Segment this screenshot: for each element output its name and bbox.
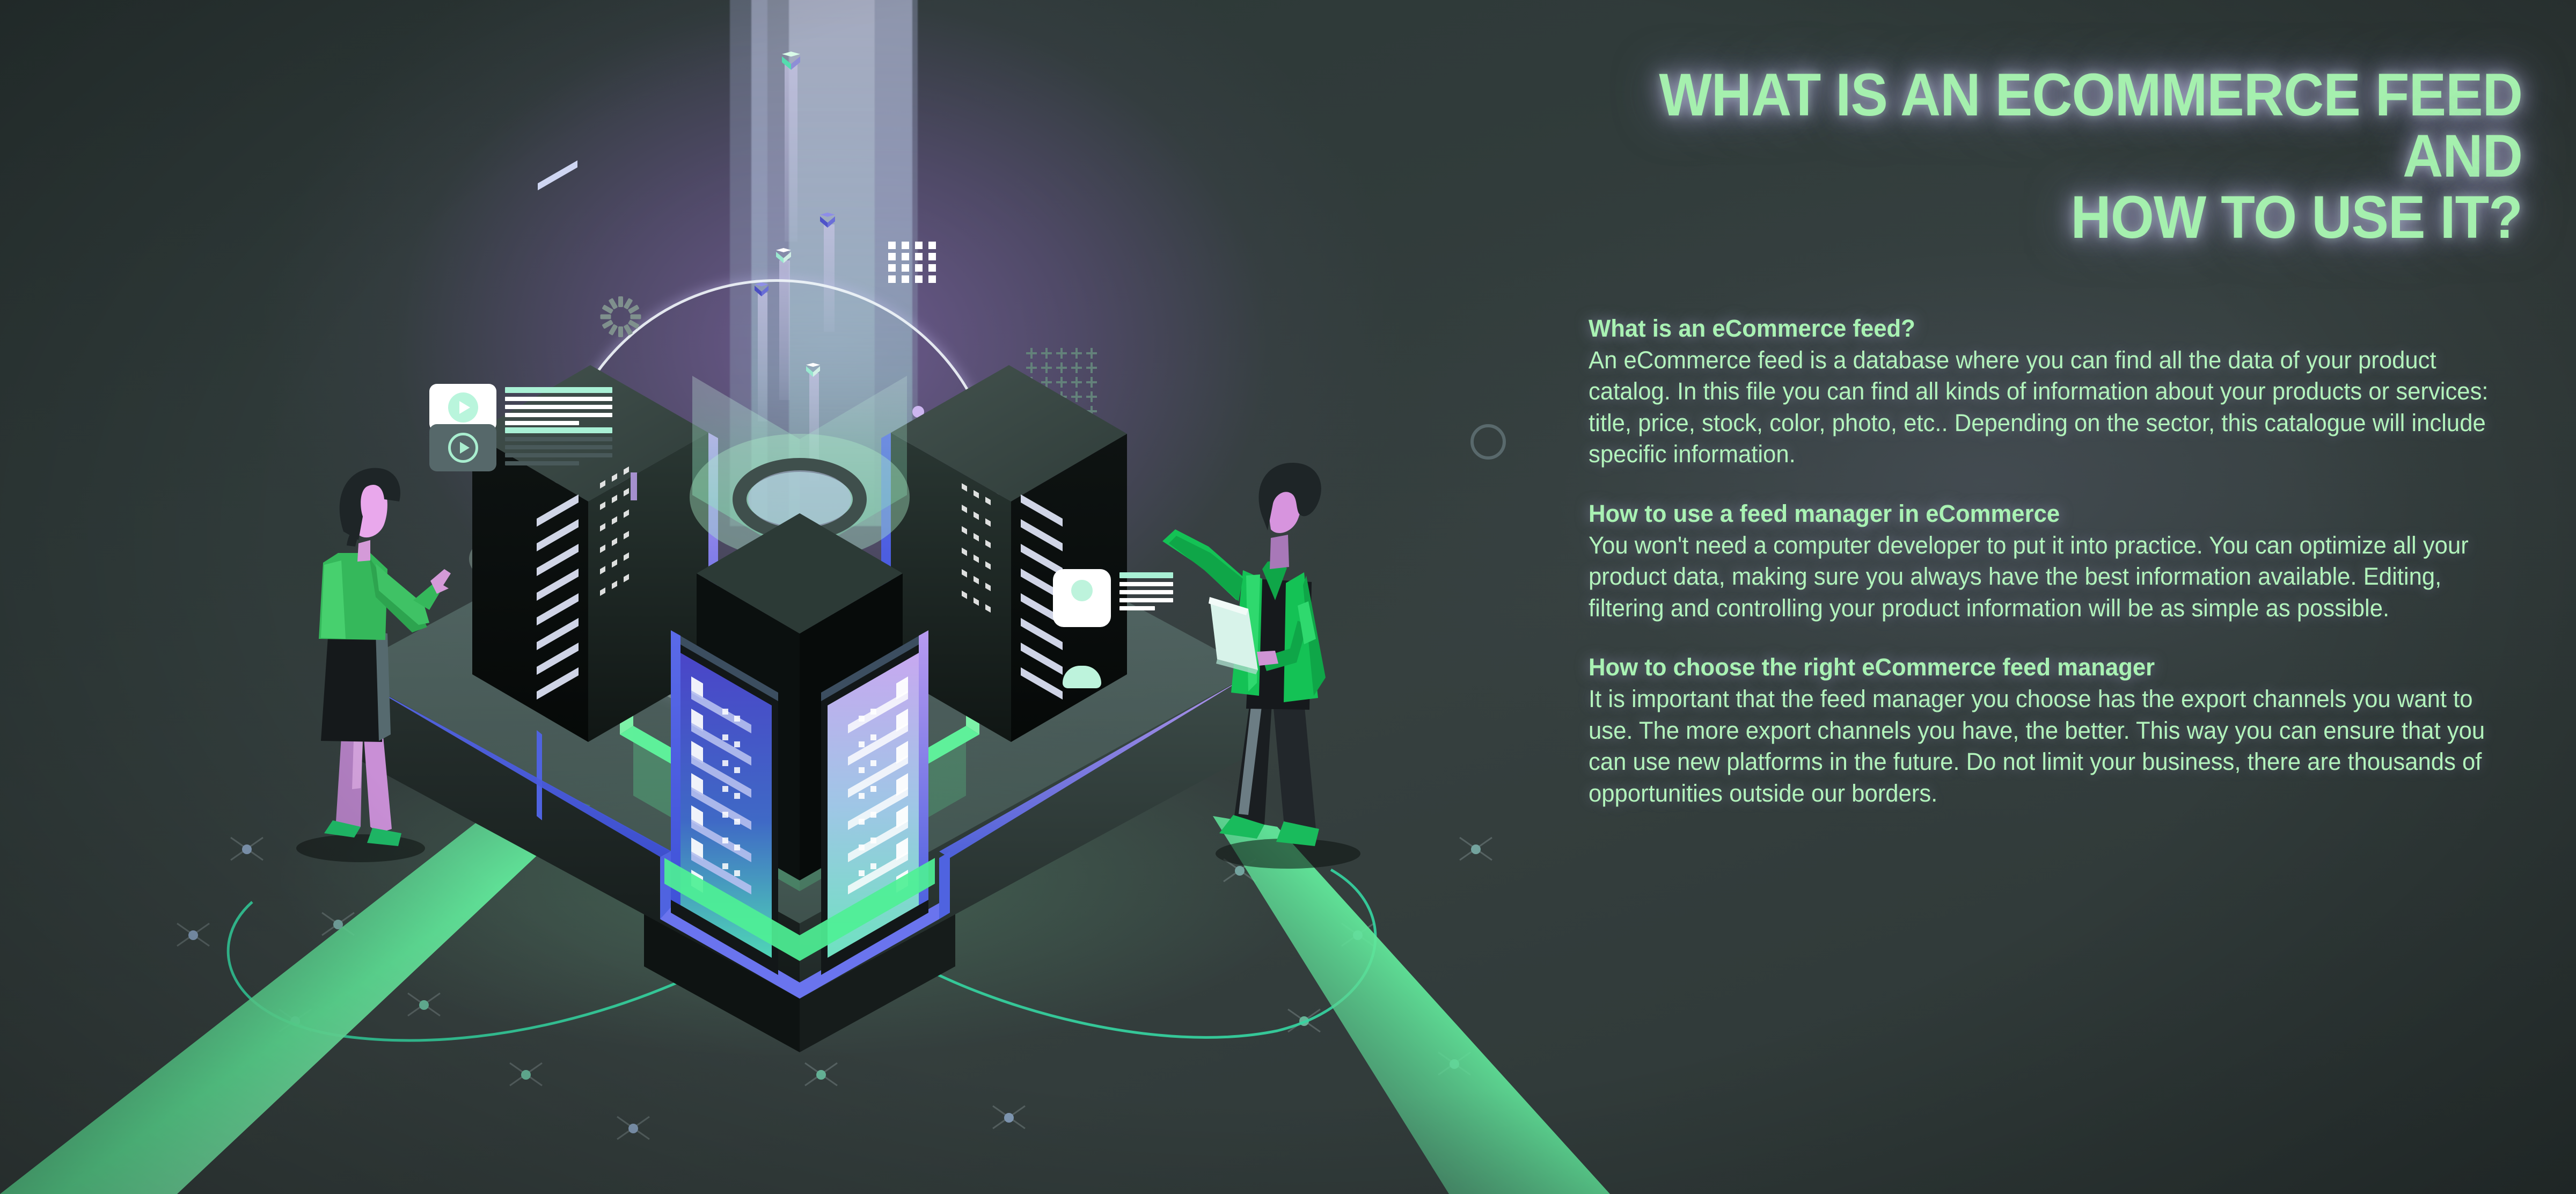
video-thumbnail [429,424,496,471]
title-line-1: WHAT IS AN ECOMMERCE FEED AND [1659,61,2522,190]
media-card-dim[interactable] [429,424,612,471]
section-how-to-use: How to use a feed manager in eCommerce Y… [1589,499,2522,624]
card-text-lines [1119,569,1173,610]
section-heading: How to use a feed manager in eCommerce [1589,499,2494,528]
section-what-is-feed: What is an eCommerce feed? An eCommerce … [1589,314,2522,470]
play-icon [448,392,478,423]
card-text-lines [505,424,612,465]
section-paragraph: You won't need a computer developer to p… [1589,530,2494,624]
infographic-canvas: WHAT IS AN ECOMMERCE FEED AND HOW TO USE… [0,0,2576,1194]
card-text-lines [505,384,612,425]
text-column: WHAT IS AN ECOMMERCE FEED AND HOW TO USE… [1589,64,2522,809]
profile-card[interactable] [1053,569,1173,627]
section-heading: What is an eCommerce feed? [1589,314,2494,343]
title-line-2: HOW TO USE IT? [2071,184,2522,251]
section-how-to-choose: How to choose the right eCommerce feed m… [1589,653,2522,809]
user-avatar-icon [1053,569,1111,627]
body-sections: What is an eCommerce feed? An eCommerce … [1589,314,2522,810]
play-icon [448,433,478,463]
page-title: WHAT IS AN ECOMMERCE FEED AND HOW TO USE… [1654,64,2522,249]
section-paragraph: It is important that the feed manager yo… [1589,683,2494,809]
section-heading: How to choose the right eCommerce feed m… [1589,653,2494,681]
section-paragraph: An eCommerce feed is a database where yo… [1589,345,2494,470]
